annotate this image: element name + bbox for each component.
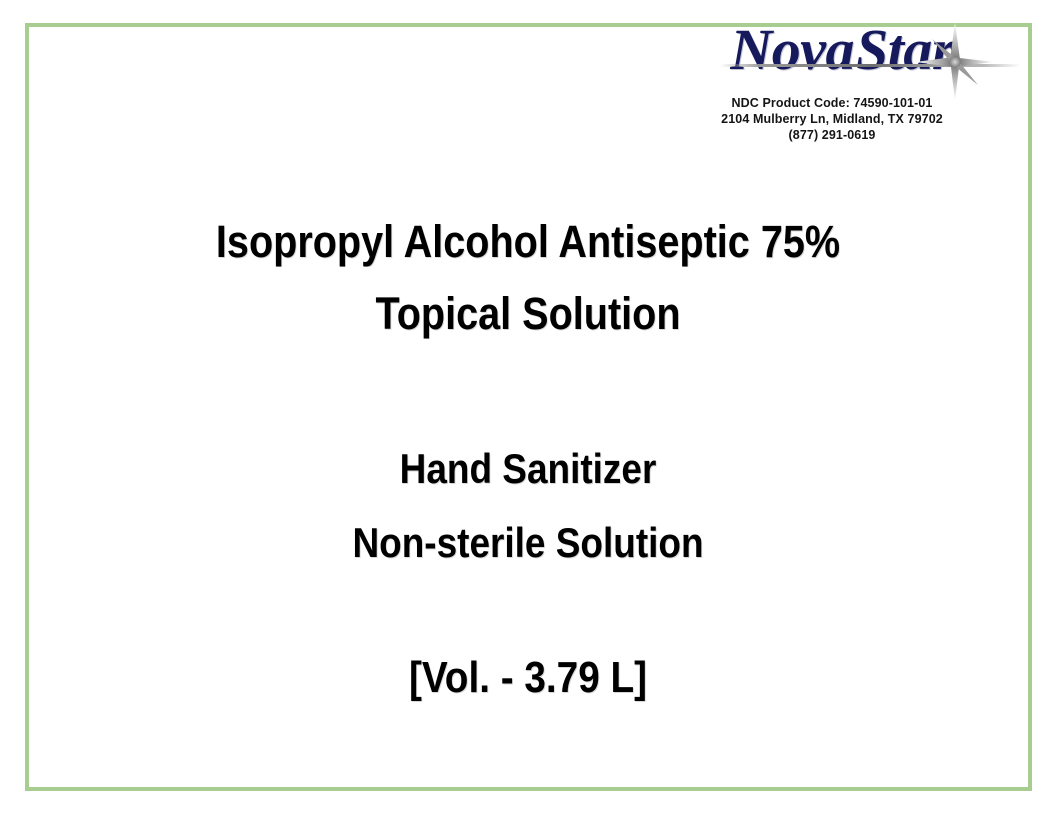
product-title-line-1: Isopropyl Alcohol Antiseptic 75% xyxy=(89,206,967,278)
product-volume: [Vol. - 3.79 L] xyxy=(89,650,967,706)
product-title-line-2: Topical Solution xyxy=(89,278,967,350)
product-label-page: NovaStar xyxy=(0,0,1056,816)
eight-point-star-icon xyxy=(914,21,996,103)
brand-logo: NovaStar xyxy=(642,15,1022,93)
company-phone-number: (877) 291-0619 xyxy=(642,127,1022,143)
company-street-address: 2104 Mulberry Ln, Midland, TX 79702 xyxy=(642,111,1022,127)
product-subtitle-block: Hand Sanitizer Non-sterile Solution xyxy=(29,432,1027,580)
brand-word-nova: Nova xyxy=(730,17,854,82)
label-header: NovaStar xyxy=(642,15,1022,143)
product-subtitle-line-1: Hand Sanitizer xyxy=(89,432,967,506)
product-title-block: Isopropyl Alcohol Antiseptic 75% Topical… xyxy=(29,206,1027,350)
product-subtitle-line-2: Non-sterile Solution xyxy=(89,506,967,580)
product-volume-block: [Vol. - 3.79 L] xyxy=(29,650,1027,706)
